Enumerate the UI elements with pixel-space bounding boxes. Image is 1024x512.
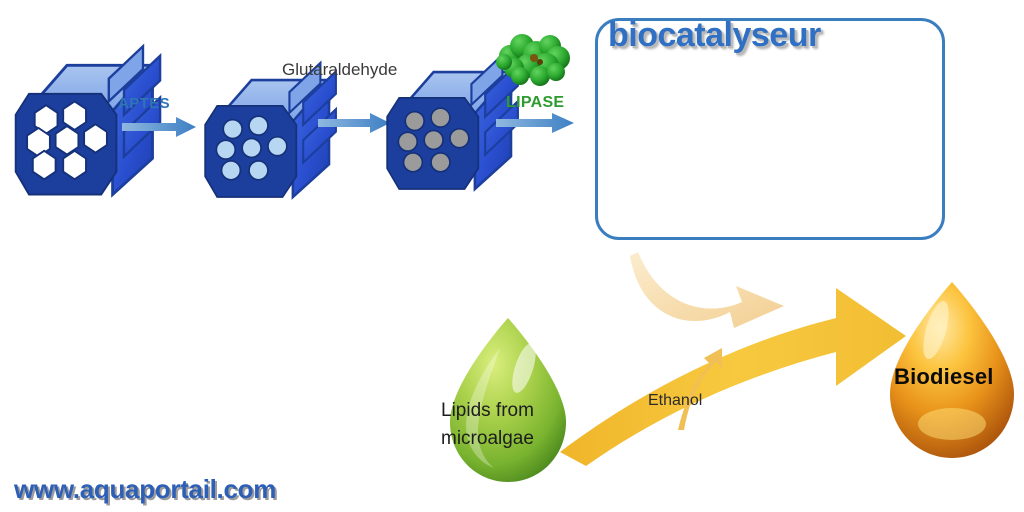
glutaraldehyde-label: Glutaraldehyde bbox=[282, 60, 397, 80]
biocatalyst-to-reaction-arrow bbox=[630, 252, 784, 328]
aptes-label: APTES bbox=[118, 95, 170, 112]
ethanol-label: Ethanol bbox=[648, 392, 702, 410]
biocatalyst-title: biocatalyseur bbox=[608, 16, 821, 55]
support-step-1-bare bbox=[16, 46, 160, 194]
support-step-2-aptes bbox=[205, 63, 336, 197]
lipid-droplet-label-line1: Lipids from bbox=[441, 400, 534, 422]
diagram-canvas: biocatalyseur APTES Glutaraldehyde LIPAS… bbox=[0, 0, 1024, 512]
lipase-label: LIPASE bbox=[506, 94, 564, 112]
site-watermark: www.aquaportail.com bbox=[14, 474, 276, 505]
lipid-droplet-label-line2: microalgae bbox=[441, 428, 534, 450]
biodiesel-droplet-label: Biodiesel bbox=[894, 364, 994, 390]
